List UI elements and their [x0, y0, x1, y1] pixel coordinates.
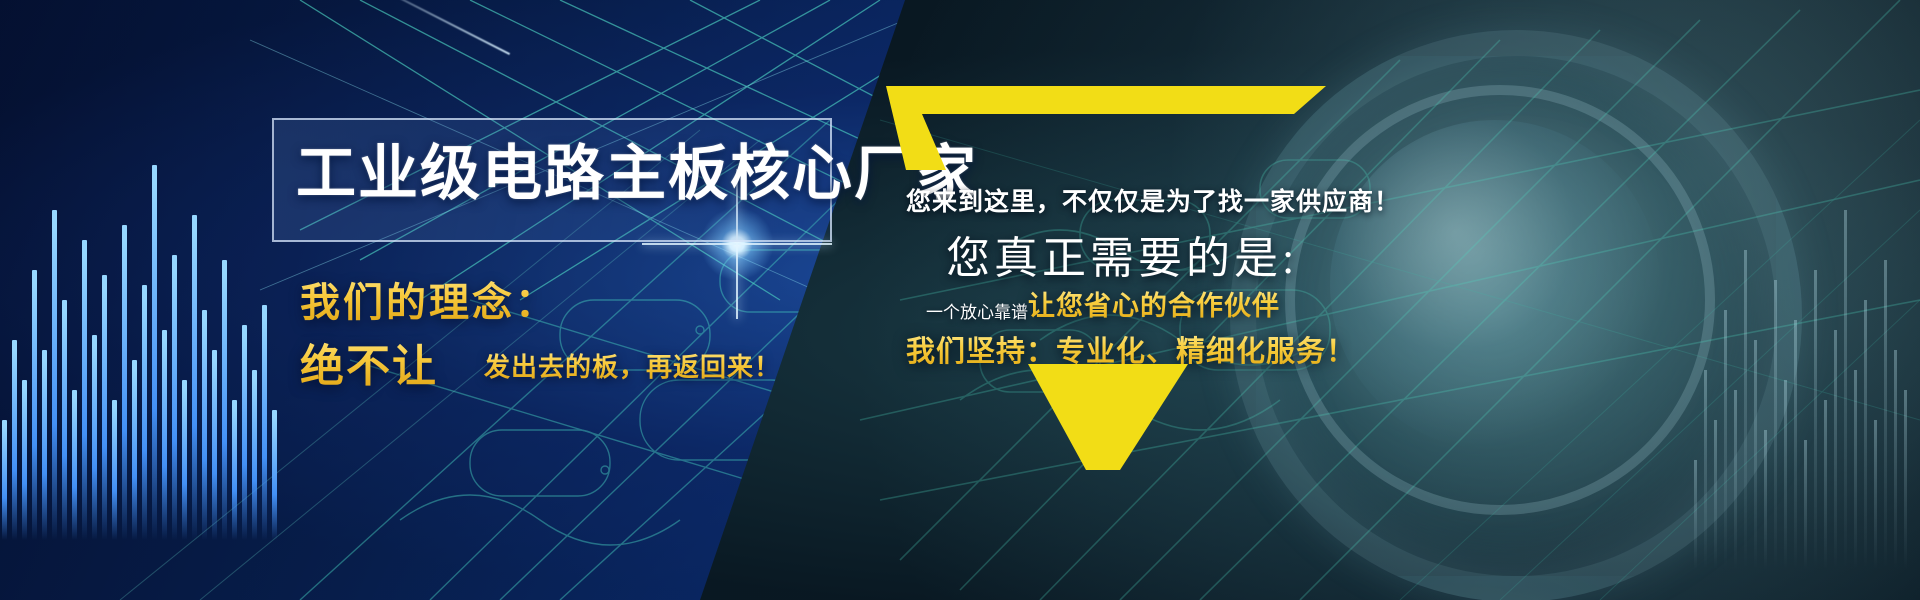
- right-subline-gold: 让您省心的合作伙伴: [1028, 284, 1280, 323]
- promise-lead: 绝不让: [300, 330, 438, 394]
- promo-banner: 工业级电路主板核心厂家 我们的理念： 绝不让 发出去的板，再返回来！ 您来到这里…: [0, 0, 1920, 600]
- page-title: 工业级电路主板核心厂家: [296, 122, 826, 214]
- right-subline: 一个放心靠谱 让您省心的合作伙伴: [926, 289, 1280, 323]
- right-subline-small: 一个放心靠谱: [926, 298, 1028, 323]
- right-headline-large: 您真正需要的是:: [946, 222, 1298, 286]
- audio-spectrum-bars: [0, 120, 300, 540]
- open-bracket-top-icon: [886, 86, 1326, 170]
- right-headline-small: 您来到这里，不仅仅是为了找一家供应商！: [906, 182, 1400, 218]
- promise-tail: 发出去的板，再返回来！: [484, 347, 781, 384]
- chevron-down-icon: [1028, 364, 1188, 470]
- vertical-bars-icon: [1690, 150, 1920, 570]
- idea-label: 我们的理念：: [300, 270, 558, 328]
